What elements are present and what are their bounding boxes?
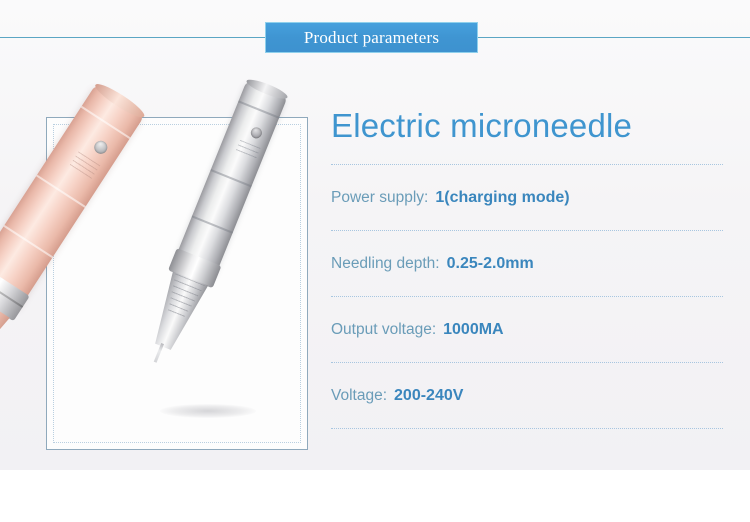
product-image-panel-inner-border [53,124,301,443]
spec-row: Needling depth: 0.25-2.0mm [331,230,723,296]
spec-value: 200-240V [394,388,463,404]
spec-row: Output voltage: 1000MA [331,296,723,362]
section-title-text: Product parameters [304,29,439,46]
spec-value: 1(charging mode) [435,190,569,206]
section-title-banner: Product parameters [265,22,478,53]
spec-label: Voltage: [331,388,387,404]
section-header: Product parameters [0,0,750,70]
spec-value: 1000MA [443,322,503,338]
product-image-panel [46,117,308,450]
spec-label: Output voltage: [331,322,436,338]
specification-list: Electric microneedle Power supply: 1(cha… [331,104,723,429]
header-rule-left [0,37,266,38]
spec-row: Power supply: 1(charging mode) [331,164,723,230]
spec-row: Voltage: 200-240V [331,362,723,429]
header-rule-right [478,37,750,38]
spec-value: 0.25-2.0mm [447,256,534,272]
product-title: Electric microneedle [331,104,723,148]
product-parameters-page: Product parameters [0,0,750,522]
spec-label: Power supply: [331,190,428,206]
spec-label: Needling depth: [331,256,440,272]
